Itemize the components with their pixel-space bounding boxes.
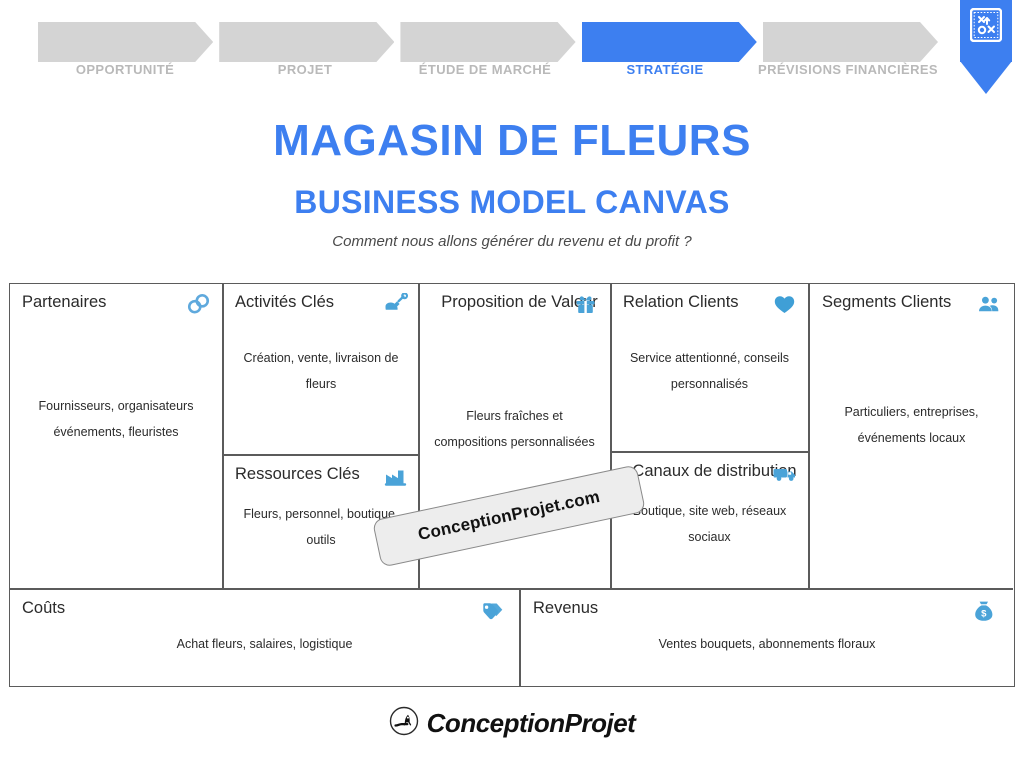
chain-link-icon [186,293,212,317]
stage-label-etude-de-marche[interactable]: ÉTUDE DE MARCHÉ [398,56,572,84]
canvas-block-couts[interactable]: Coûts Achat fleurs, salaires, logistique [10,590,519,686]
canvas-block-segments-clients[interactable]: Segments Clients Particuliers, entrepris… [810,284,1013,588]
pin-tip [960,61,1012,94]
users-group-icon [977,293,1003,317]
strategy-playbook-icon [960,0,1012,96]
stage-label-previsions-financieres[interactable]: PRÉVISIONS FINANCIÈRES [758,56,938,84]
stage-label-strategie[interactable]: STRATÉGIE [578,56,752,84]
block-text-revenus: Ventes bouquets, abonnements floraux [531,632,1003,658]
footer-brand-name: ConceptionProjet [427,708,636,739]
stage-label-opportunite[interactable]: OPPORTUNITÉ [38,56,212,84]
factory-icon [383,465,409,489]
stage-label-projet[interactable]: PROJET [218,56,392,84]
block-text-relation-clients: Service attentionné, conseils personnali… [621,346,798,397]
conceptionprojet-logo-icon [389,706,419,741]
page-subtitle: BUSINESS MODEL CANVAS [0,184,1024,221]
block-header-segments-clients: Segments Clients [822,292,1003,338]
stage-label-row: OPPORTUNITÉ PROJET ÉTUDE DE MARCHÉ STRAT… [38,56,938,84]
block-header-relation-clients: Relation Clients [623,292,798,338]
price-tags-icon [477,599,503,623]
canvas-block-activites-cles[interactable]: Activités Clés Création, vente, livraiso… [223,284,419,454]
block-title-revenus: Revenus [533,598,1003,619]
svg-text:$: $ [981,609,987,620]
block-title-segments-clients: Segments Clients [822,292,1003,313]
canvas-block-canaux-de-distribution[interactable]: Canaux de distribution Boutique, site we… [611,453,808,588]
canvas-block-revenus[interactable]: Revenus $ Ventes bouquets, abonnements f… [521,590,1013,686]
block-text-partenaires: Fournisseurs, organisateurs événements, … [20,394,212,445]
shovel-icon [383,293,409,317]
title-block: MAGASIN DE FLEURS BUSINESS MODEL CANVAS … [0,118,1024,250]
page-title: MAGASIN DE FLEURS [0,118,1024,164]
block-text-canaux-de-distribution: Boutique, site web, réseaux sociaux [621,499,798,550]
delivery-truck-icon [772,462,798,486]
block-text-activites-cles: Création, vente, livraison de fleurs [233,346,409,397]
block-text-segments-clients: Particuliers, entreprises, événements lo… [820,400,1003,451]
stage-progress-bar: OPPORTUNITÉ PROJET ÉTUDE DE MARCHÉ STRAT… [0,0,1024,108]
block-text-proposition-de-valeur: Fleurs fraîches et compositions personna… [430,404,599,455]
gift-icon [573,293,599,317]
block-title-couts: Coûts [22,598,509,619]
canvas-block-partenaires[interactable]: Partenaires Fournisseurs, organisateurs … [10,284,222,588]
business-model-canvas-grid: Partenaires Fournisseurs, organisateurs … [9,283,1015,687]
footer-brand: ConceptionProjet [0,706,1024,741]
heart-icon [772,293,798,317]
block-header-proposition-de-valeur: Proposition de Valeur [432,292,599,338]
block-header-partenaires: Partenaires [22,292,212,338]
block-text-couts: Achat fleurs, salaires, logistique [20,632,509,658]
money-bag-icon: $ [971,599,997,623]
block-title-partenaires: Partenaires [22,292,212,313]
canvas-block-relation-clients[interactable]: Relation Clients Service attentionné, co… [611,284,808,451]
page-tagline: Comment nous allons générer du revenu et… [0,233,1024,250]
block-header-activites-cles: Activités Clés [235,292,409,338]
